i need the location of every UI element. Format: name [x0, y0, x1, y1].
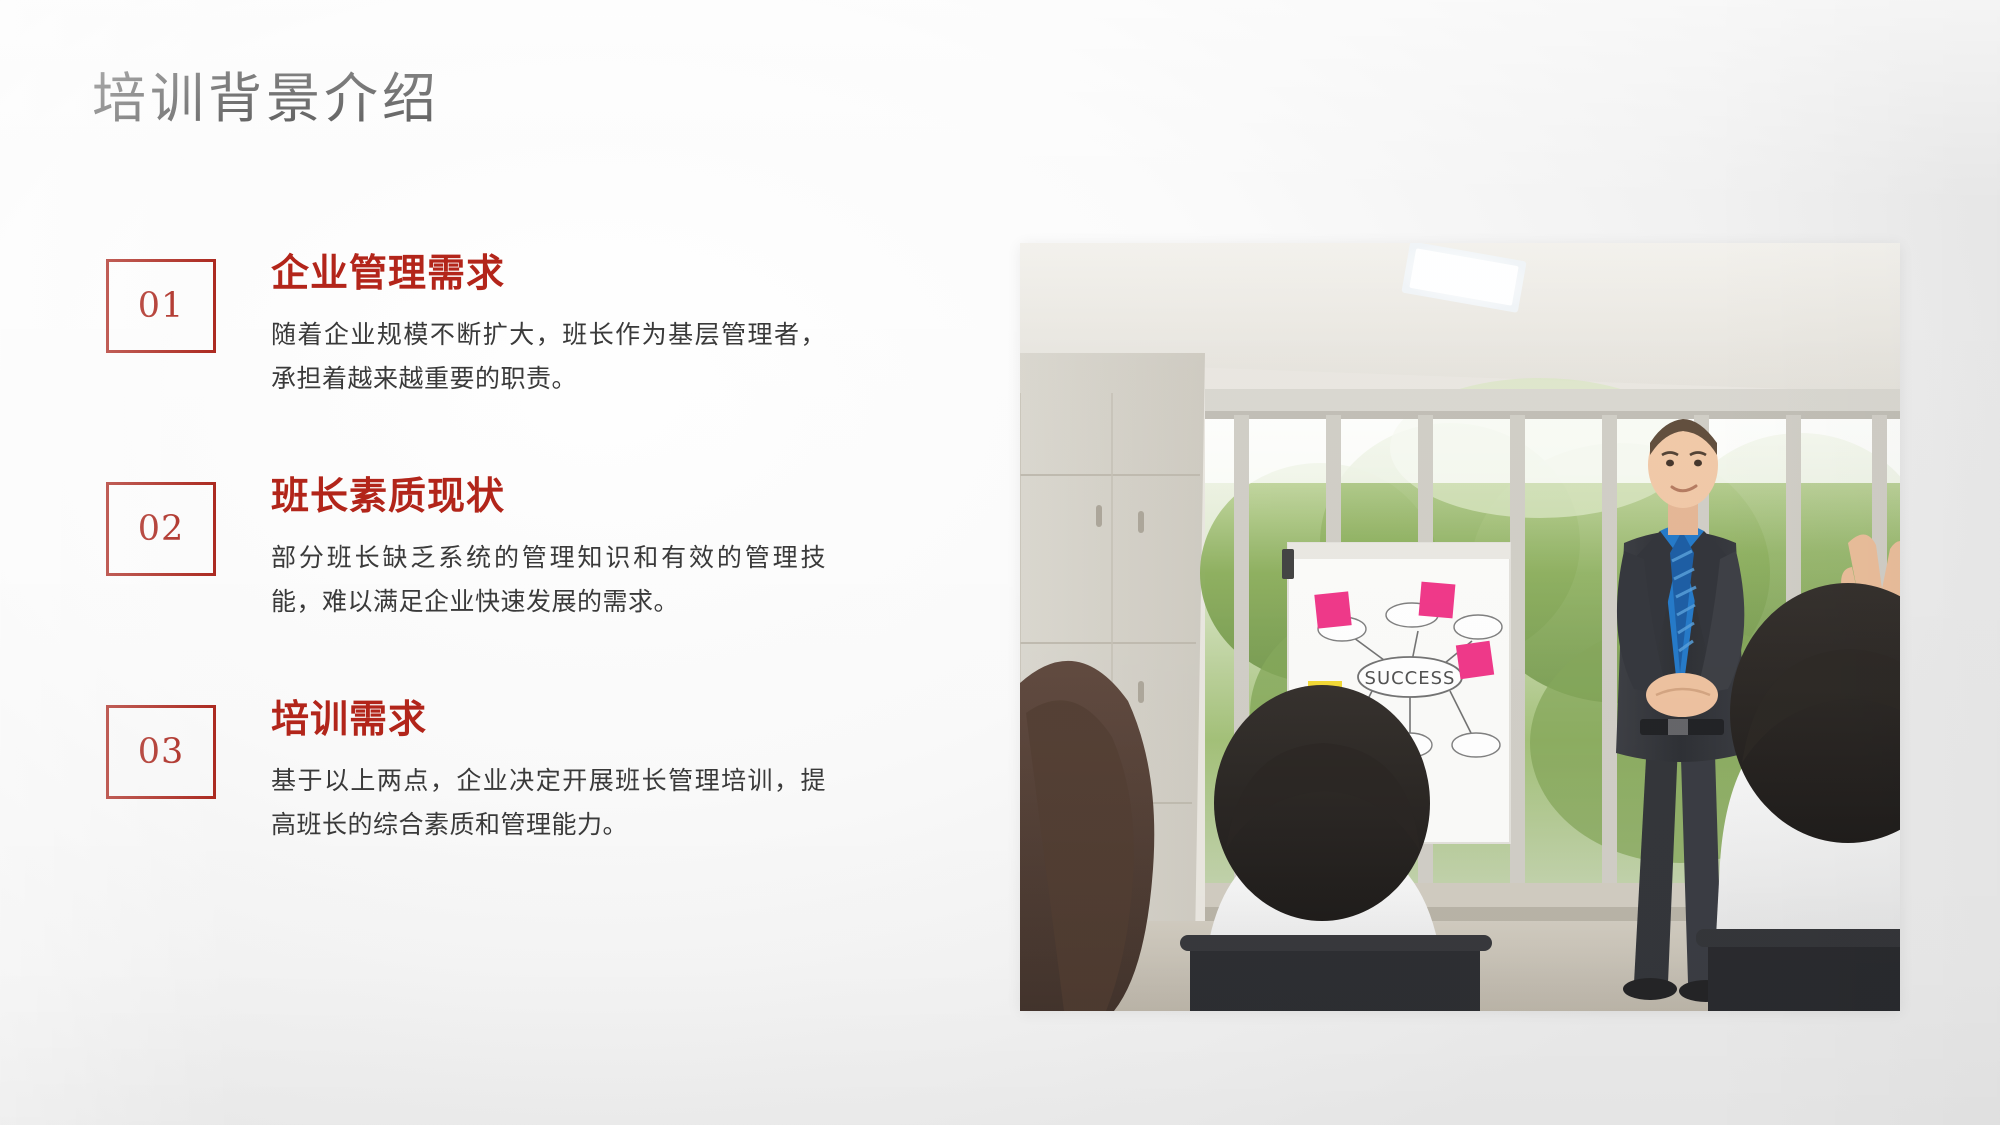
item-number-label: 01	[138, 289, 185, 324]
item-number-box: 03	[106, 705, 216, 799]
training-room-illustration: SUCCESS	[1020, 243, 1900, 1011]
item-body: 企业管理需求 随着企业规模不断扩大，班长作为基层管理者，承担着越来越重要的职责。	[271, 251, 826, 402]
list-item[interactable]: 01 企业管理需求 随着企业规模不断扩大，班长作为基层管理者，承担着越来越重要的…	[106, 251, 786, 402]
list-item[interactable]: 02 班长素质现状 部分班长缺乏系统的管理知识和有效的管理技能，难以满足企业快速…	[106, 474, 786, 625]
item-body: 培训需求 基于以上两点，企业决定开展班长管理培训，提高班长的综合素质和管理能力。	[271, 697, 826, 848]
item-heading: 培训需求	[271, 697, 826, 741]
list-item[interactable]: 03 培训需求 基于以上两点，企业决定开展班长管理培训，提高班长的综合素质和管理…	[106, 697, 786, 848]
item-description: 部分班长缺乏系统的管理知识和有效的管理技能，难以满足企业快速发展的需求。	[271, 536, 826, 625]
training-room-photo: SUCCESS	[1020, 243, 1900, 1011]
item-number-box: 01	[106, 259, 216, 353]
item-number-label: 02	[138, 512, 185, 547]
item-description: 随着企业规模不断扩大，班长作为基层管理者，承担着越来越重要的职责。	[271, 313, 826, 402]
item-description: 基于以上两点，企业决定开展班长管理培训，提高班长的综合素质和管理能力。	[271, 759, 826, 848]
page-title: 培训背景介绍	[92, 64, 440, 133]
item-number-box: 02	[106, 482, 216, 576]
item-body: 班长素质现状 部分班长缺乏系统的管理知识和有效的管理技能，难以满足企业快速发展的…	[271, 474, 826, 625]
item-heading: 班长素质现状	[271, 474, 826, 518]
item-number-label: 03	[138, 735, 185, 770]
item-heading: 企业管理需求	[271, 251, 826, 295]
slide: 培训背景介绍 01 企业管理需求 随着企业规模不断扩大，班长作为基层管理者，承担…	[0, 0, 2000, 1125]
